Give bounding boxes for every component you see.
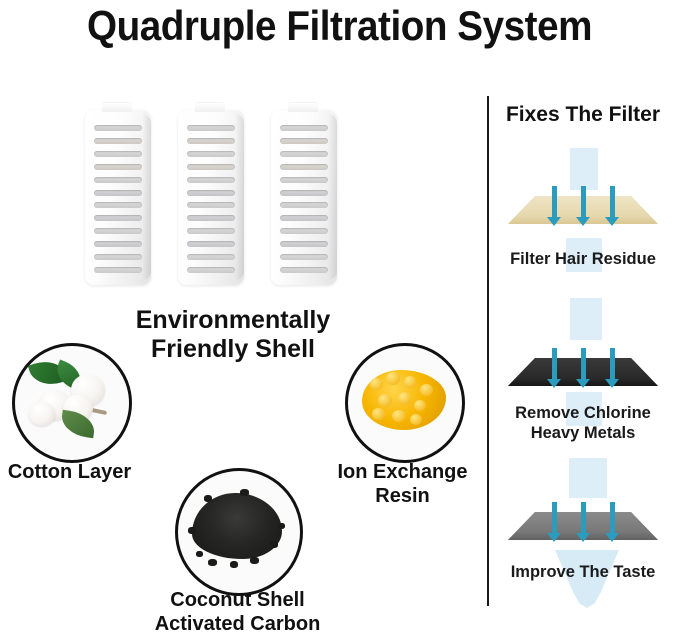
vent-slot bbox=[94, 177, 142, 183]
stage-label-line1: Improve The Taste bbox=[487, 562, 679, 582]
cartridge-tab-icon bbox=[195, 103, 225, 112]
resin-bead bbox=[386, 372, 400, 385]
left-panel: Environmentally Friendly Shell Cotton La… bbox=[0, 0, 487, 633]
water-block bbox=[570, 148, 598, 190]
cartridge-edge-shadow bbox=[328, 114, 337, 280]
water-block bbox=[569, 458, 607, 498]
cartridge-edge-shadow bbox=[235, 114, 244, 280]
coconut-carbon-label: Coconut Shell Activated Carbon bbox=[145, 588, 330, 633]
cartridge-highlight bbox=[86, 114, 93, 280]
arrow-down-icon bbox=[604, 186, 620, 228]
carbon-grain bbox=[278, 523, 285, 529]
vent-slot bbox=[280, 215, 328, 221]
resin-bead bbox=[392, 410, 406, 422]
cartridge-tab-icon bbox=[288, 103, 318, 112]
cartridge-vent-face bbox=[94, 124, 142, 274]
arrow-down-icon bbox=[546, 186, 562, 228]
carbon-grain bbox=[270, 541, 278, 548]
right-panel-title: Fixes The Filter bbox=[487, 103, 679, 127]
filter-cartridge bbox=[178, 110, 244, 285]
stage-label-improve-taste: Improve The Taste bbox=[487, 562, 679, 582]
cotton-layer-label: Cotton Layer bbox=[0, 460, 157, 484]
vent-slot bbox=[280, 241, 328, 247]
vent-slot bbox=[94, 125, 142, 131]
vent-slot bbox=[94, 138, 142, 144]
carbon-grain bbox=[204, 495, 212, 502]
ion-exchange-resin-label: Ion Exchange Resin bbox=[320, 460, 485, 508]
vent-slot bbox=[280, 177, 328, 183]
carbon-grain bbox=[196, 551, 203, 557]
vent-slot bbox=[280, 267, 328, 273]
cotton-layer-label-line1: Cotton Layer bbox=[0, 460, 157, 484]
cartridge-edge-shadow bbox=[142, 114, 151, 280]
vent-slot bbox=[94, 151, 142, 157]
carbon-label-line1: Coconut Shell bbox=[145, 588, 330, 612]
stage-label-remove-chlorine: Remove Chlorine Heavy Metals bbox=[487, 403, 679, 443]
vent-slot bbox=[187, 151, 235, 157]
water-block bbox=[570, 298, 602, 340]
resin-bead bbox=[398, 392, 411, 405]
vent-slot bbox=[187, 241, 235, 247]
vent-slot bbox=[94, 190, 142, 196]
vent-slot bbox=[280, 254, 328, 260]
carbon-pile bbox=[192, 493, 282, 559]
infographic-page: Quadruple Filtration System bbox=[0, 0, 679, 633]
cotton-layer-image bbox=[12, 343, 132, 463]
stage-label-line1: Remove Chlorine bbox=[487, 403, 679, 423]
vent-slot bbox=[280, 151, 328, 157]
vent-slot bbox=[280, 228, 328, 234]
vent-slot bbox=[187, 138, 235, 144]
vent-slot bbox=[94, 202, 142, 208]
stage-label-line1: Filter Hair Residue bbox=[487, 249, 679, 269]
filter-cartridge bbox=[271, 110, 337, 285]
carbon-grain bbox=[240, 489, 249, 496]
cartridge-vent-face bbox=[187, 124, 235, 274]
carbon-label-line2: Activated Carbon bbox=[145, 612, 330, 633]
cartridge-highlight bbox=[179, 114, 186, 280]
vent-slot bbox=[187, 228, 235, 234]
vent-slot bbox=[280, 125, 328, 131]
vent-slot bbox=[187, 190, 235, 196]
arrow-down-icon bbox=[604, 348, 620, 390]
stage-label-filter-hair-residue: Filter Hair Residue bbox=[487, 249, 679, 269]
vent-slot bbox=[280, 164, 328, 170]
cartridge-tab-icon bbox=[102, 103, 132, 112]
vent-slot bbox=[94, 164, 142, 170]
arrow-down-icon bbox=[546, 348, 562, 390]
resin-bead bbox=[372, 408, 385, 420]
vent-slot bbox=[187, 202, 235, 208]
vent-slot bbox=[280, 202, 328, 208]
arrow-down-icon bbox=[604, 502, 620, 544]
right-panel: Fixes The Filter Filter Hair Residue bbox=[487, 0, 679, 633]
filter-cartridge-group bbox=[85, 100, 355, 290]
arrow-down-icon bbox=[575, 222, 591, 252]
vent-slot bbox=[94, 267, 142, 273]
resin-bead bbox=[370, 378, 383, 390]
vent-slot bbox=[94, 228, 142, 234]
vent-slot bbox=[187, 254, 235, 260]
carbon-grain bbox=[250, 557, 259, 564]
shell-caption-line1: Environmentally bbox=[103, 306, 363, 335]
cotton-boll bbox=[29, 402, 55, 426]
vent-slot bbox=[187, 215, 235, 221]
resin-bead bbox=[414, 400, 426, 411]
resin-bead bbox=[410, 414, 422, 425]
resin-label-line2: Resin bbox=[320, 484, 485, 508]
ion-exchange-resin-image bbox=[345, 343, 465, 463]
shell-caption: Environmentally Friendly Shell bbox=[103, 306, 363, 364]
carbon-grain bbox=[188, 527, 196, 534]
resin-bead bbox=[404, 376, 416, 388]
resin-bead bbox=[378, 394, 392, 407]
filter-cartridge bbox=[85, 110, 151, 285]
carbon-grain bbox=[230, 561, 238, 568]
vent-slot bbox=[187, 177, 235, 183]
arrow-down-icon bbox=[546, 502, 562, 544]
cartridge-highlight bbox=[272, 114, 279, 280]
vent-slot bbox=[280, 190, 328, 196]
vent-slot bbox=[94, 241, 142, 247]
vent-slot bbox=[280, 138, 328, 144]
resin-bead bbox=[420, 384, 433, 396]
vent-slot bbox=[94, 254, 142, 260]
cartridge-vent-face bbox=[280, 124, 328, 274]
vent-slot bbox=[94, 215, 142, 221]
vent-slot bbox=[187, 267, 235, 273]
shell-caption-line2: Friendly Shell bbox=[103, 335, 363, 364]
vent-slot bbox=[187, 125, 235, 131]
coconut-carbon-image bbox=[175, 468, 303, 596]
resin-label-line1: Ion Exchange bbox=[320, 460, 485, 484]
carbon-grain bbox=[208, 559, 217, 566]
stage-label-line2: Heavy Metals bbox=[487, 423, 679, 443]
vent-slot bbox=[187, 164, 235, 170]
